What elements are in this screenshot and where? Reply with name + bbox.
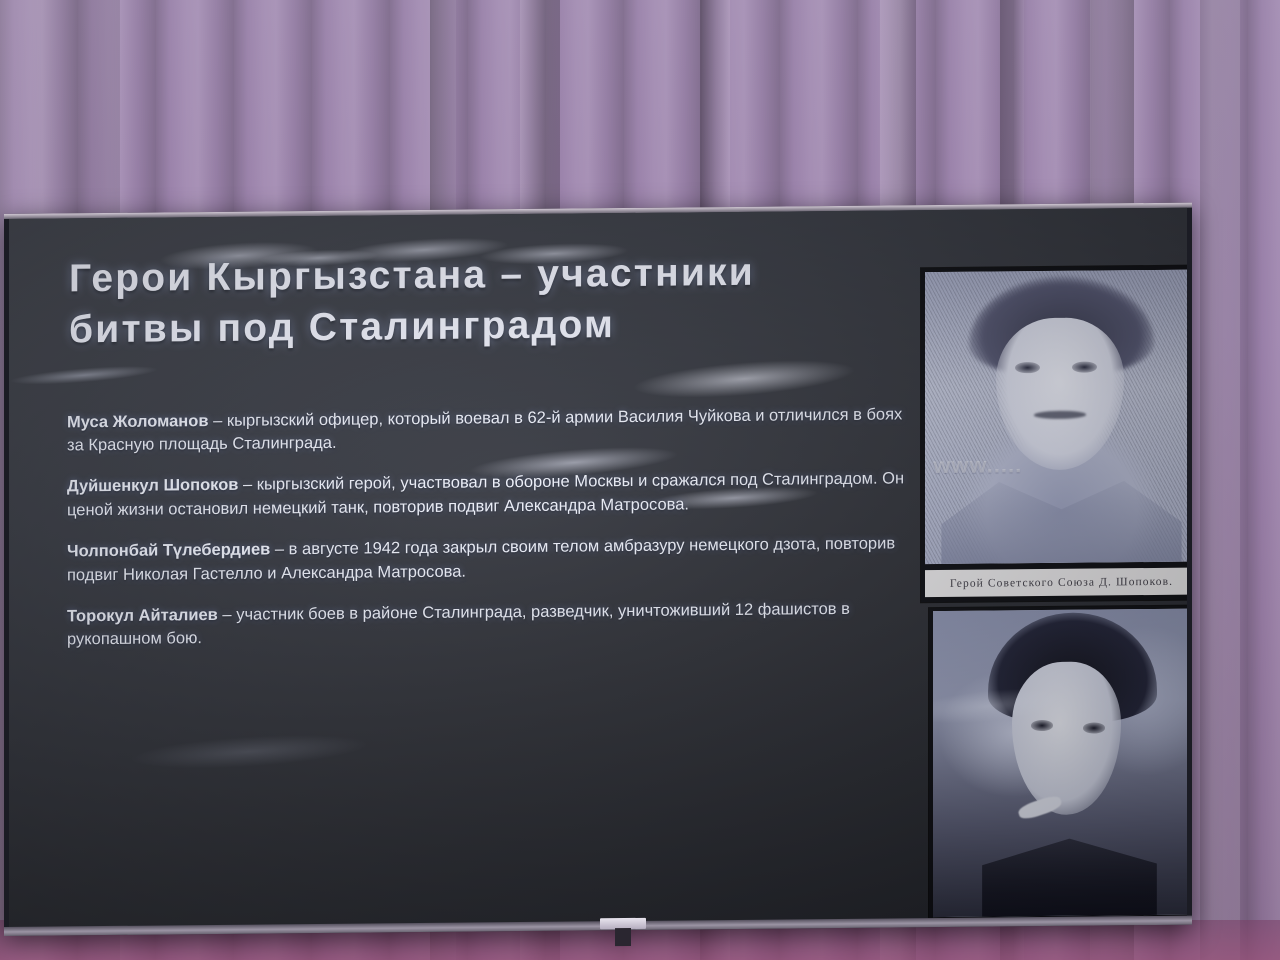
photo-shopokov: www..... Герой Советского Союза Д. Шопок… [921,265,1187,602]
curtain-fold [1200,0,1240,960]
slide-title: Герои Кыргызстана – участники битвы под … [69,247,869,356]
hero-dash: – [270,540,288,558]
presentation-slide: Герои Кыргызстана – участники битвы под … [9,208,1187,927]
screen-glare [9,362,159,388]
photo-caption: Герой Советского Союза Д. Шопоков. [925,568,1187,598]
display-stand [615,928,631,946]
hero-name: Муса Жоломанов [67,412,209,431]
slide-paragraph: Чолпонбай Түлебердиев – в августе 1942 г… [67,533,907,588]
portrait-face [996,317,1124,470]
photo-watermark: www..... [933,451,1187,480]
hero-dash: – [209,411,227,429]
slide-paragraph: Торокул Айталиев – участник боев в район… [67,597,907,652]
portrait-face [1012,661,1121,815]
portrait-eye [1031,720,1053,731]
photo-image [933,608,1187,917]
portrait-illustration [925,270,1187,565]
hero-name: Дуйшенкул Шопоков [67,476,238,496]
screen-glare [128,729,369,774]
hero-name: Чолпонбай Түлебердиев [67,541,270,561]
photo-image: www..... [925,270,1187,565]
hero-name: Торокул Айталиев [67,606,218,625]
portrait-collar [982,829,1157,916]
slide-paragraph: Дуйшенкул Шопоков – кыргызский герой, уч… [67,468,907,523]
hero-dash: – [218,606,236,624]
photo-second-hero [929,605,1187,920]
portrait-eye [1015,362,1040,374]
hero-dash: – [238,476,256,494]
slide-body-list: Муса Жоломанов – кыргызский офицер, кото… [67,386,907,670]
slide-paragraph: Муса Жоломанов – кыргызский офицер, кото… [67,403,907,458]
portrait-photograph [933,608,1187,917]
portrait-eye [1083,723,1105,734]
presentation-display: Герои Кыргызстана – участники битвы под … [4,203,1192,936]
